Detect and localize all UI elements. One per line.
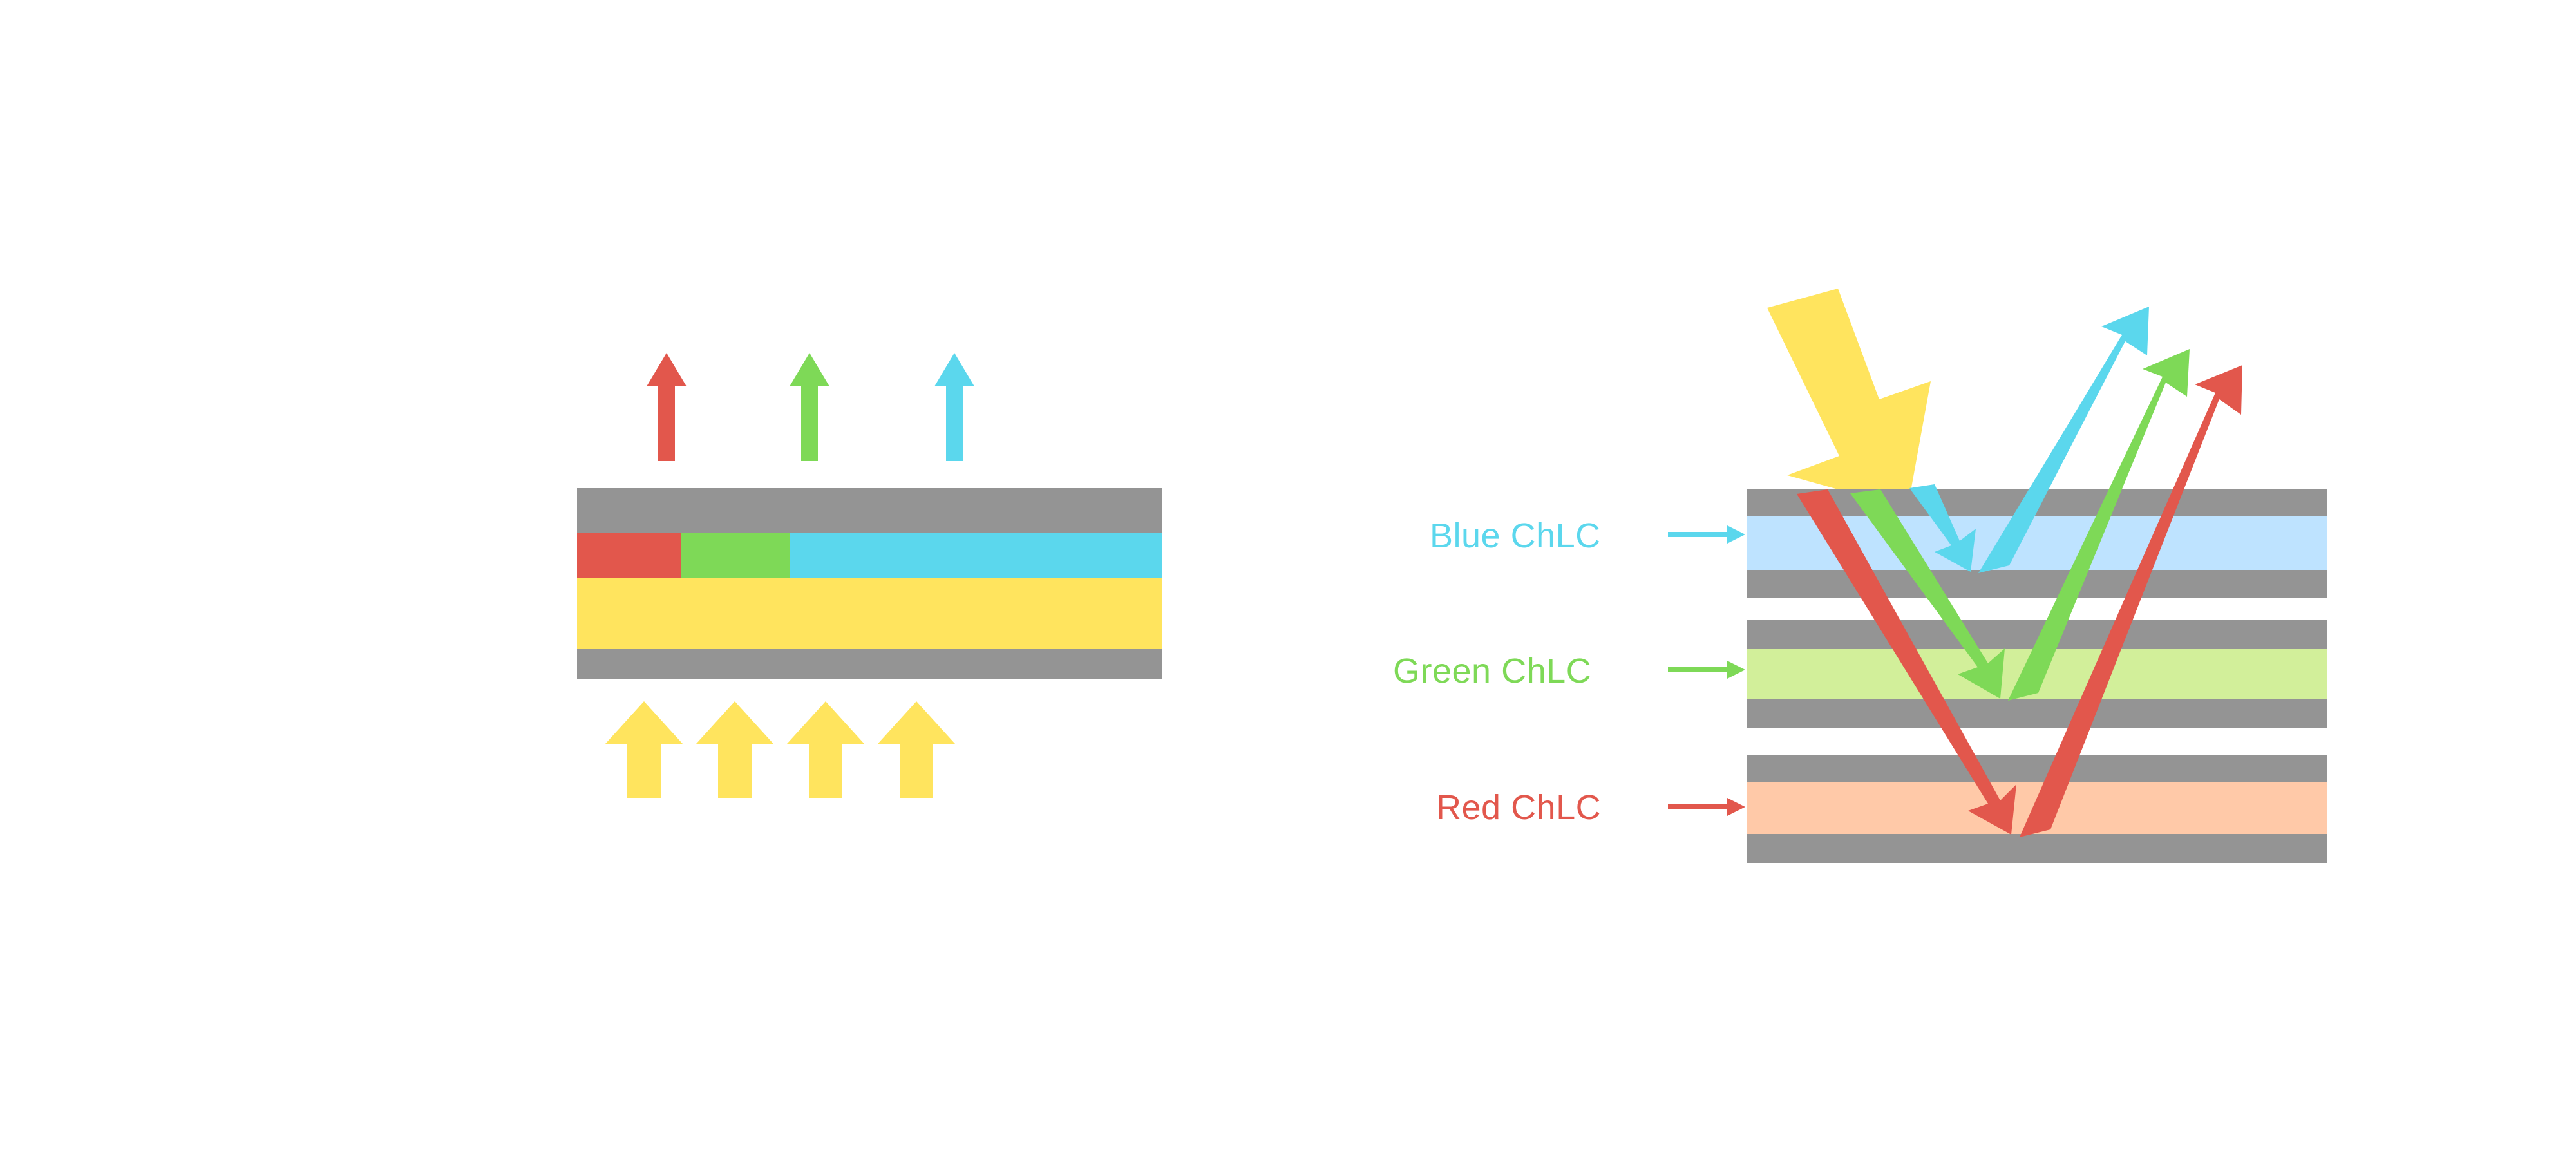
red-chlc-label-text: Red ChLC	[1436, 788, 1601, 827]
blue-chlc-label-arrow-head	[1727, 525, 1745, 544]
emitted-red-arrow	[647, 353, 687, 461]
blue-chlc-label-text: Blue ChLC	[1430, 516, 1601, 555]
right-panel: Blue ChLC Green ChLC Red ChLC	[1393, 288, 2327, 863]
red-cell-top-electrode	[1747, 755, 2327, 782]
green-chlc-label-text: Green ChLC	[1393, 652, 1591, 690]
left-panel	[577, 353, 1162, 798]
top-electrode-layer	[577, 488, 1162, 533]
green-segment	[681, 533, 790, 578]
backlight-arrow-3	[787, 701, 864, 798]
incident-white-light-arrow	[1767, 288, 1931, 509]
emitted-green-arrow	[790, 353, 829, 461]
red-cell-bottom-electrode	[1747, 834, 2327, 863]
emitted-cyan-arrow	[934, 353, 974, 461]
red-segment	[577, 533, 681, 578]
backlight-arrows	[605, 701, 955, 798]
blue-chlc-label: Blue ChLC	[1430, 516, 1745, 555]
green-chlc-label-arrow-head	[1727, 661, 1745, 679]
left-stack	[577, 488, 1162, 679]
backlight-arrow-2	[696, 701, 773, 798]
blue-cell-bottom-electrode	[1747, 570, 2327, 598]
red-chlc-label: Red ChLC	[1436, 788, 1745, 827]
figure-canvas: Blue ChLC Green ChLC Red ChLC	[0, 0, 2576, 1154]
backlight-arrow-1	[605, 701, 683, 798]
blue-segment	[790, 533, 1162, 578]
green-chlc-label: Green ChLC	[1393, 652, 1745, 690]
bottom-electrode-layer	[577, 649, 1162, 679]
diagram-svg: Blue ChLC Green ChLC Red ChLC	[0, 0, 2576, 1154]
backlight-arrow-4	[878, 701, 955, 798]
yellow-backlight-layer	[577, 578, 1162, 649]
green-cell-bottom-electrode	[1747, 699, 2327, 728]
red-chlc-label-arrow-head	[1727, 798, 1745, 816]
